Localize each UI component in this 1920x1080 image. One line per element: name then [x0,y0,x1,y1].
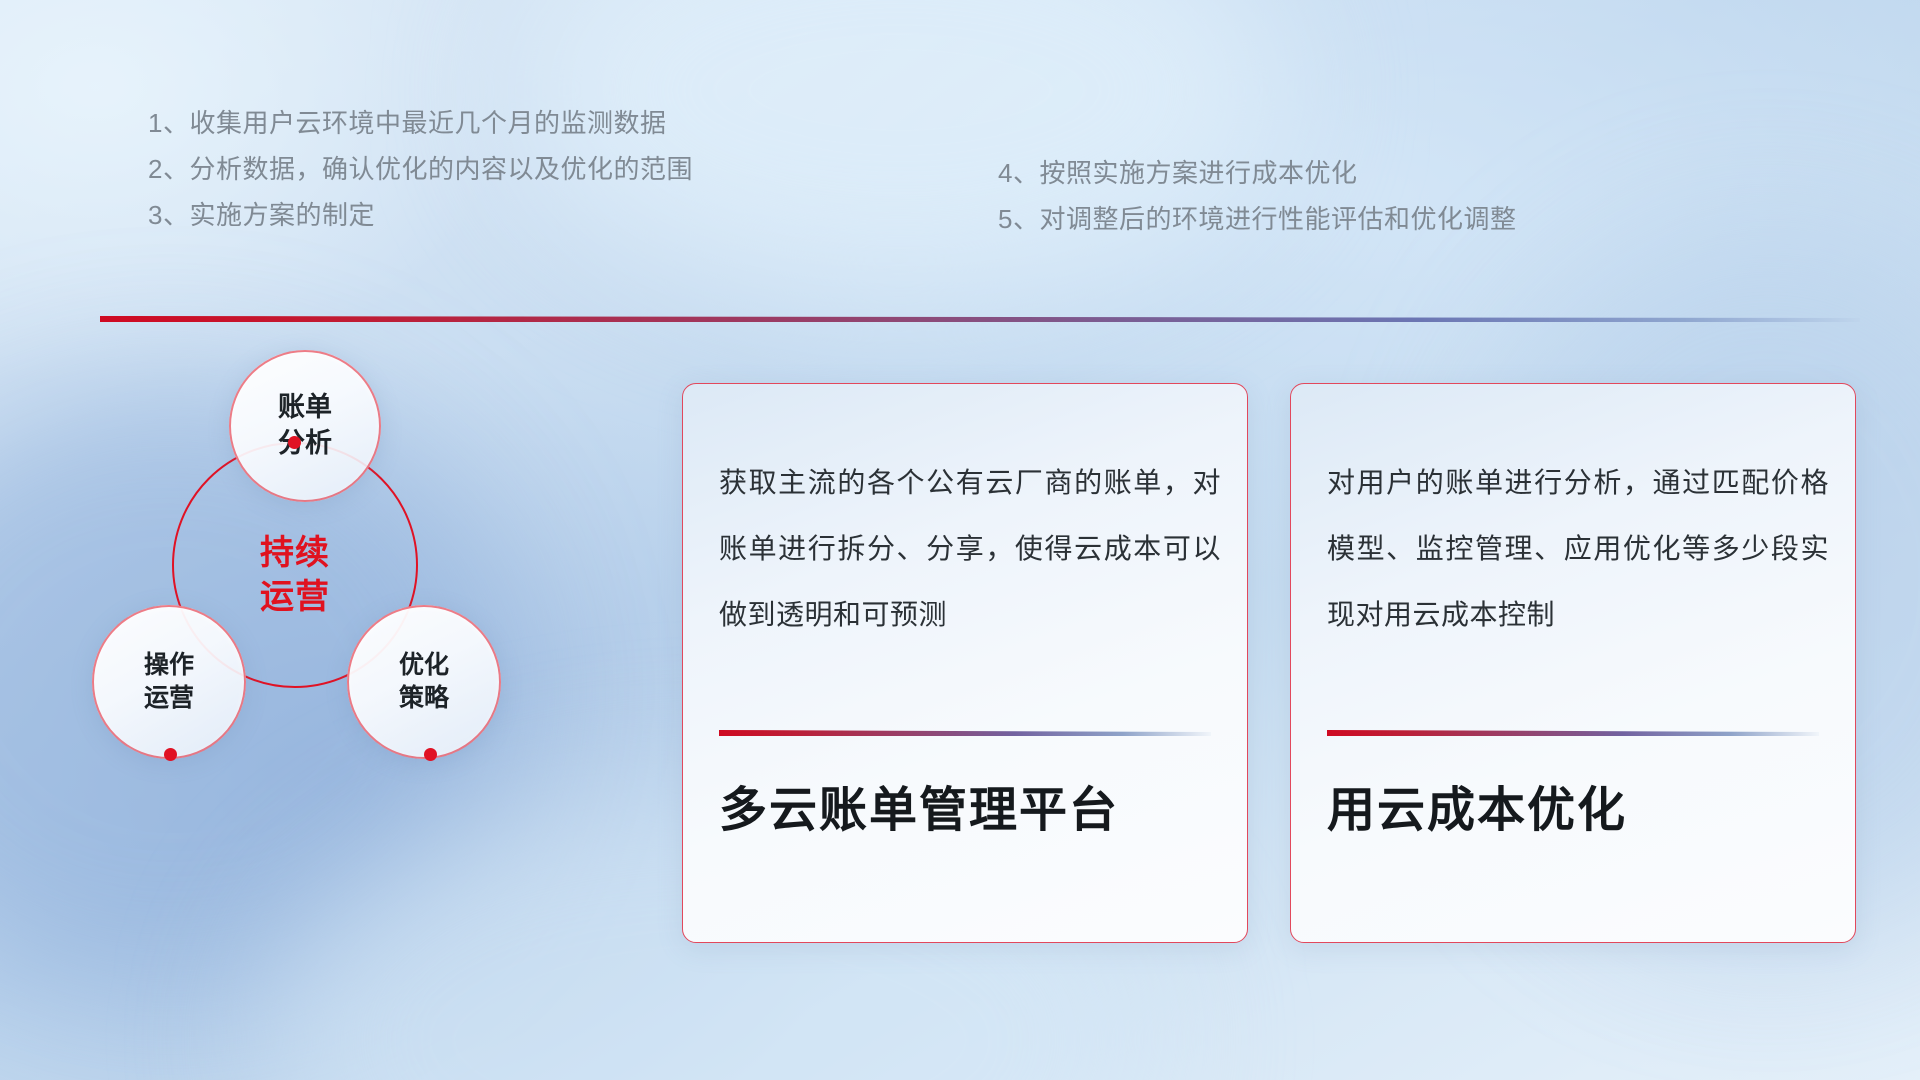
venn-node-dot-top [288,436,301,449]
steps-list-right: 4、按照实施方案进行成本优化 5、对调整后的环境进行性能评估和优化调整 [998,150,1516,242]
step-item-3: 3、实施方案的制定 [148,192,693,238]
venn-arc-left [92,605,246,759]
feature-card-cost-optimization[interactable]: 对用户的账单进行分析，通过匹配价格模型、监控管理、应用优化等多少段实现对用云成本… [1290,383,1856,943]
steps-list-left: 1、收集用户云环境中最近几个月的监测数据 2、分析数据，确认优化的内容以及优化的… [148,100,693,238]
step-item-1: 1、收集用户云环境中最近几个月的监测数据 [148,100,693,146]
section-divider-rule [100,316,1860,322]
venn-center-label: 持续 运营 [222,532,368,619]
venn-node-dot-right [424,748,437,761]
feature-card-body: 对用户的账单进行分析，通过匹配价格模型、监控管理、应用优化等多少段实现对用云成本… [1327,450,1829,647]
feature-card-rule [1327,730,1819,736]
step-item-4: 4、按照实施方案进行成本优化 [998,150,1516,196]
venn-arc-right [347,605,501,759]
feature-card-body: 获取主流的各个公有云厂商的账单，对账单进行拆分、分享，使得云成本可以做到透明和可… [719,450,1221,647]
step-item-2: 2、分析数据，确认优化的内容以及优化的范围 [148,146,693,192]
venn-center-label-line2: 运营 [222,576,368,620]
feature-card-rule [719,730,1211,736]
slide-canvas: 1、收集用户云环境中最近几个月的监测数据 2、分析数据，确认优化的内容以及优化的… [0,0,1920,1080]
feature-card-title: 用云成本优化 [1327,782,1829,840]
venn-diagram: 账单 分析 操作 运营 优化 策略 持续 运营 [90,350,620,910]
venn-node-dot-left [164,748,177,761]
venn-center-label-line1: 持续 [222,532,368,576]
step-item-5: 5、对调整后的环境进行性能评估和优化调整 [998,196,1516,242]
feature-card-title: 多云账单管理平台 [719,782,1221,840]
feature-card-multicloud-billing[interactable]: 获取主流的各个公有云厂商的账单，对账单进行拆分、分享，使得云成本可以做到透明和可… [682,383,1248,943]
venn-arc-top [229,350,381,502]
